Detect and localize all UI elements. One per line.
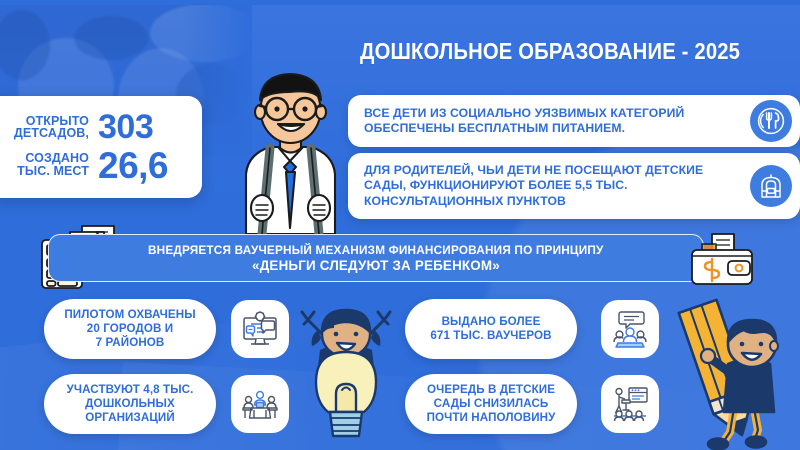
stat-row: ОТКРЫТО ДЕТСАДОВ, 303 [2,111,190,143]
info-panel-text: ВСЕ ДЕТИ ИЗ СОЦИАЛЬНО УЯЗВИМЫХ КАТЕГОРИЙ… [364,106,742,137]
info-panel-free-meals: ВСЕ ДЕТИ ИЗ СОЦИАЛЬНО УЯЗВИМЫХ КАТЕГОРИЙ… [348,95,800,147]
stat-label: СОЗДАНО ТЫС. МЕСТ [2,152,89,178]
card-vouchers-issued: ВЫДАНО БОЛЕЕ 671 ТЫС. ВАУЧЕРОВ [405,299,577,359]
card-line: ОЧЕРЕДЬ В ДЕТСКИЕ [427,383,555,396]
card-line: ДОШКОЛЬНЫХ [85,397,175,410]
card-participating-organizations: УЧАСТВУЮТ 4,8 ТЫС. ДОШКОЛЬНЫХ ОРГАНИЗАЦИ… [44,374,216,434]
wallet-money-icon [682,226,768,292]
card-line: САДЫ СНИЗИЛАСЬ [434,397,549,410]
plate-fork-knife-icon [750,100,792,142]
girl-with-lightbulb-mascot [292,298,400,448]
stat-value: 303 [98,111,190,143]
card-text: ПИЛОТОМ ОХВАЧЕНЫ 20 ГОРОДОВ И 7 РАЙОНОВ [64,308,195,350]
presenter-audience-icon [601,375,659,433]
stat-row: СОЗДАНО ТЫС. МЕСТ 26,6 [2,148,190,183]
page-title: ДОШКОЛЬНОЕ ОБРАЗОВАНИЕ - 2025 [360,38,740,65]
card-queue-reduced: ОЧЕРЕДЬ В ДЕТСКИЕ САДЫ СНИЗИЛАСЬ ПОЧТИ Н… [405,374,577,434]
card-line: 7 РАЙОНОВ [96,336,165,349]
people-speech-bubble-icon [601,300,659,358]
top-rule [0,0,800,5]
card-line: УЧАСТВУЮТ 4,8 ТЫС. [67,383,194,396]
card-line: ВЫДАНО БОЛЕЕ [442,315,541,328]
info-panel-consultation-points: ДЛЯ РОДИТЕЛЕЙ, ЧЬИ ДЕТИ НЕ ПОСЕЩАЮТ ДЕТС… [348,153,800,219]
backpack-icon [750,165,792,207]
stat-label-line2: ДЕТСАДОВ, [2,127,89,140]
voucher-line-1: ВНЕДРЯЕТСЯ ВАУЧЕРНЫЙ МЕХАНИЗМ ФИНАНСИРОВ… [148,243,604,257]
boy-with-glasses-mascot [218,62,363,234]
header: ДОШКОЛЬНОЕ ОБРАЗОВАНИЕ - 2025 [360,28,800,74]
card-line: 671 ТЫС. ВАУЧЕРОВ [430,329,551,342]
infographic-canvas: ДОШКОЛЬНОЕ ОБРАЗОВАНИЕ - 2025 [0,0,800,450]
card-text: УЧАСТВУЮТ 4,8 ТЫС. ДОШКОЛЬНЫХ ОРГАНИЗАЦИ… [67,383,194,425]
card-line: ОРГАНИЗАЦИЙ [85,411,175,424]
card-line: 20 ГОРОДОВ И [87,322,173,335]
card-line: ПОЧТИ НАПОЛОВИНУ [427,411,556,424]
card-line: ПИЛОТОМ ОХВАЧЕНЫ [64,308,195,321]
monitor-gear-chat-icon [231,300,289,358]
meeting-table-icon [231,375,289,433]
card-pilot-coverage: ПИЛОТОМ ОХВАЧЕНЫ 20 ГОРОДОВ И 7 РАЙОНОВ [44,299,216,359]
stat-value: 26,6 [98,148,190,183]
statistics-card: ОТКРЫТО ДЕТСАДОВ, 303 СОЗДАНО ТЫС. МЕСТ … [0,96,202,198]
card-text: ВЫДАНО БОЛЕЕ 671 ТЫС. ВАУЧЕРОВ [430,315,551,343]
card-text: ОЧЕРЕДЬ В ДЕТСКИЕ САДЫ СНИЗИЛАСЬ ПОЧТИ Н… [427,383,556,425]
voucher-mechanism-banner: ВНЕДРЯЕТСЯ ВАУЧЕРНЫЙ МЕХАНИЗМ ФИНАНСИРОВ… [48,234,704,282]
info-panel-text: ДЛЯ РОДИТЕЛЕЙ, ЧЬИ ДЕТИ НЕ ПОСЕЩАЮТ ДЕТС… [364,163,742,209]
stat-label: ОТКРЫТО ДЕТСАДОВ, [2,115,89,141]
boy-with-pencil-mascot [662,296,800,450]
stat-label-line2: ТЫС. МЕСТ [2,165,89,178]
voucher-line-2: «ДЕНЬГИ СЛЕДУЮТ ЗА РЕБЕНКОМ» [252,258,500,273]
